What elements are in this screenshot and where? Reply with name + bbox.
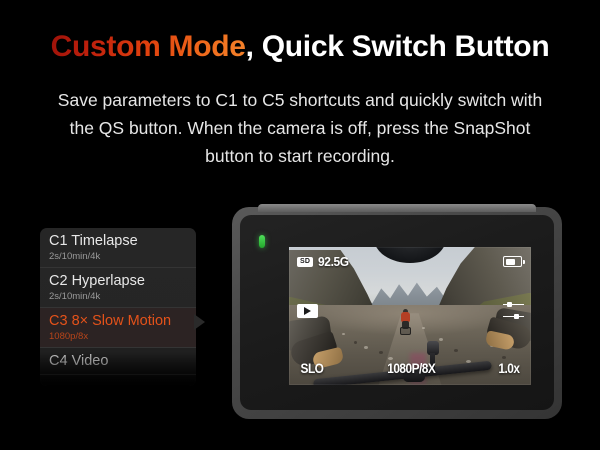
slider-knob — [514, 314, 519, 319]
camera-top-edge — [258, 204, 536, 212]
status-led-indicator — [259, 235, 265, 248]
slide-canvas: Custom Mode, Quick Switch Button Save pa… — [0, 0, 600, 450]
slider-icon-1[interactable] — [503, 301, 524, 307]
menu-item-c1-sub: 2s/10min/4k — [49, 250, 196, 263]
menu-selection-caret-icon — [194, 314, 205, 330]
page-title-rest: , Quick Switch Button — [246, 30, 550, 63]
hud-resolution[interactable]: 1080P/8X — [325, 360, 497, 378]
menu-item-c1-title: C1 Timelapse — [49, 233, 196, 250]
page-title: Custom Mode, Quick Switch Button — [0, 30, 600, 64]
page-title-accent: Custom Mode — [51, 30, 246, 63]
battery-icon — [503, 256, 522, 267]
menu-item-c2[interactable]: C2 Hyperlapse 2s/10min/4k — [40, 268, 196, 308]
menu-item-c3-sub: 1080p/8x — [49, 330, 196, 343]
hud-zoom[interactable]: 1.0x — [497, 360, 521, 378]
battery-fill — [506, 259, 515, 265]
hud-bottom-bar: SLO 1080P/8X 1.0x — [289, 360, 531, 378]
camera-lcd-screen[interactable]: SD 92.5G — [289, 247, 531, 385]
sd-card-icon: SD — [297, 257, 313, 267]
play-triangle-icon — [304, 307, 311, 315]
menu-item-c2-sub: 2s/10min/4k — [49, 290, 196, 303]
camera-hud-overlay: SD 92.5G — [289, 247, 531, 385]
menu-item-c2-title: C2 Hyperlapse — [49, 273, 196, 290]
settings-sliders[interactable] — [503, 301, 524, 319]
storage-remaining-label: 92.5G — [318, 254, 349, 269]
hud-resolution-label: 1080P/8X — [387, 361, 435, 376]
hud-mode[interactable]: SLO — [299, 360, 325, 378]
custom-mode-menu-panel: C1 Timelapse 2s/10min/4k C2 Hyperlapse 2… — [40, 228, 196, 386]
playback-play-icon[interactable] — [297, 304, 318, 318]
page-subtitle: Save parameters to C1 to C5 shortcuts an… — [50, 86, 550, 170]
storage-indicator: SD 92.5G — [297, 254, 352, 269]
menu-item-c3[interactable]: C3 8× Slow Motion 1080p/8x — [40, 308, 196, 348]
slider-icon-2[interactable] — [503, 313, 524, 319]
menu-item-c4-title: C4 Video — [49, 353, 196, 370]
menu-item-c3-title: C3 8× Slow Motion — [49, 313, 196, 330]
menu-item-c1[interactable]: C1 Timelapse 2s/10min/4k — [40, 228, 196, 268]
action-camera: SD 92.5G — [232, 207, 562, 419]
custom-mode-menu[interactable]: C1 Timelapse 2s/10min/4k C2 Hyperlapse 2… — [40, 228, 196, 386]
slider-knob — [507, 302, 512, 307]
hud-zoom-label: 1.0x — [499, 361, 520, 376]
menu-item-c4[interactable]: C4 Video — [40, 348, 196, 375]
hud-mode-label: SLO — [301, 361, 324, 376]
camera-back-body: SD 92.5G — [240, 215, 554, 410]
